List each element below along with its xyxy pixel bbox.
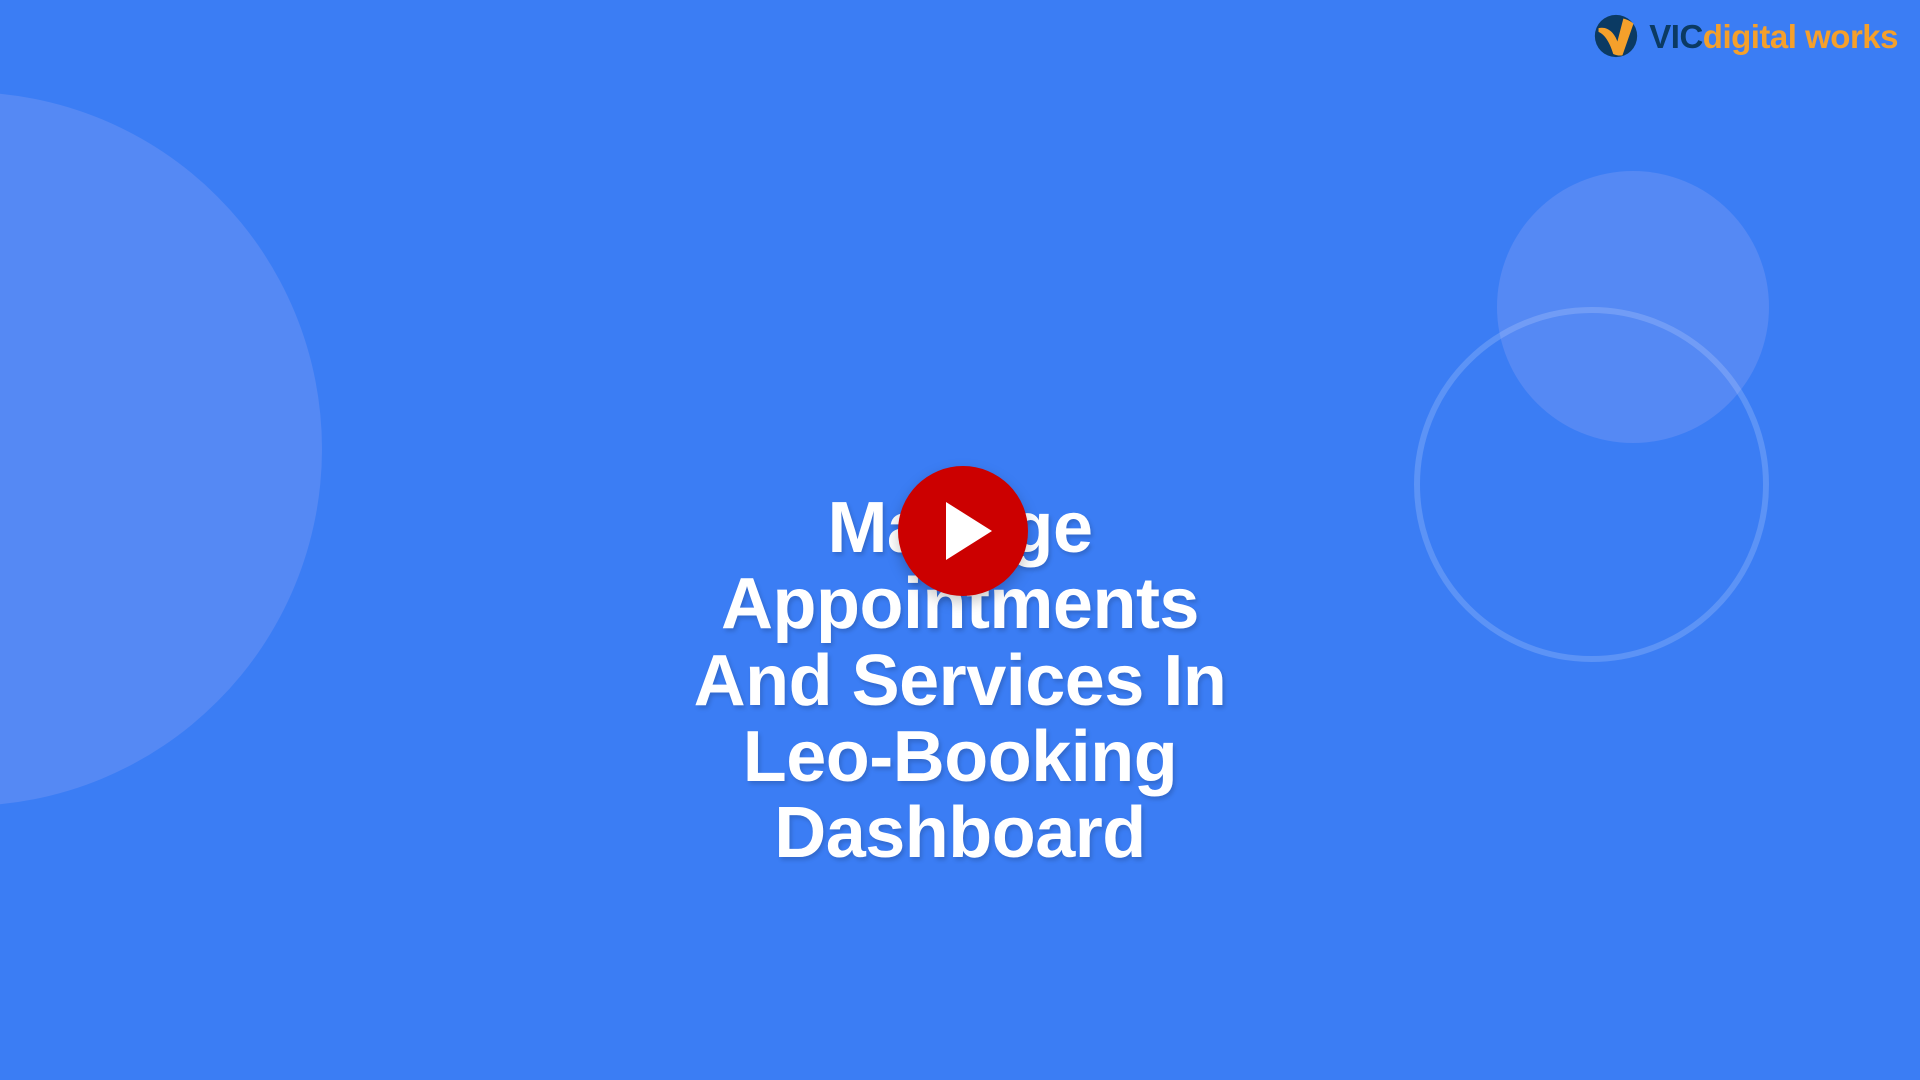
brand-wordmark: VICdigital works xyxy=(1649,20,1898,53)
video-thumbnail-poster: VICdigital works Manage Appointments And… xyxy=(0,0,1920,1080)
blob-left-circle xyxy=(0,92,322,806)
blob-top-right-circle xyxy=(1497,171,1769,443)
headline-line-5: Dashboard xyxy=(410,795,1510,871)
play-button[interactable] xyxy=(898,466,1028,596)
headline-line-3: And Services In xyxy=(410,643,1510,719)
brand-wordmark-primary: VIC xyxy=(1649,18,1703,55)
brand-logo[interactable]: VICdigital works xyxy=(1593,13,1898,59)
play-icon xyxy=(946,502,992,560)
brand-wordmark-secondary: digital works xyxy=(1703,18,1898,55)
vic-logo-mark-icon xyxy=(1593,13,1639,59)
headline-line-4: Leo-Booking xyxy=(410,719,1510,795)
